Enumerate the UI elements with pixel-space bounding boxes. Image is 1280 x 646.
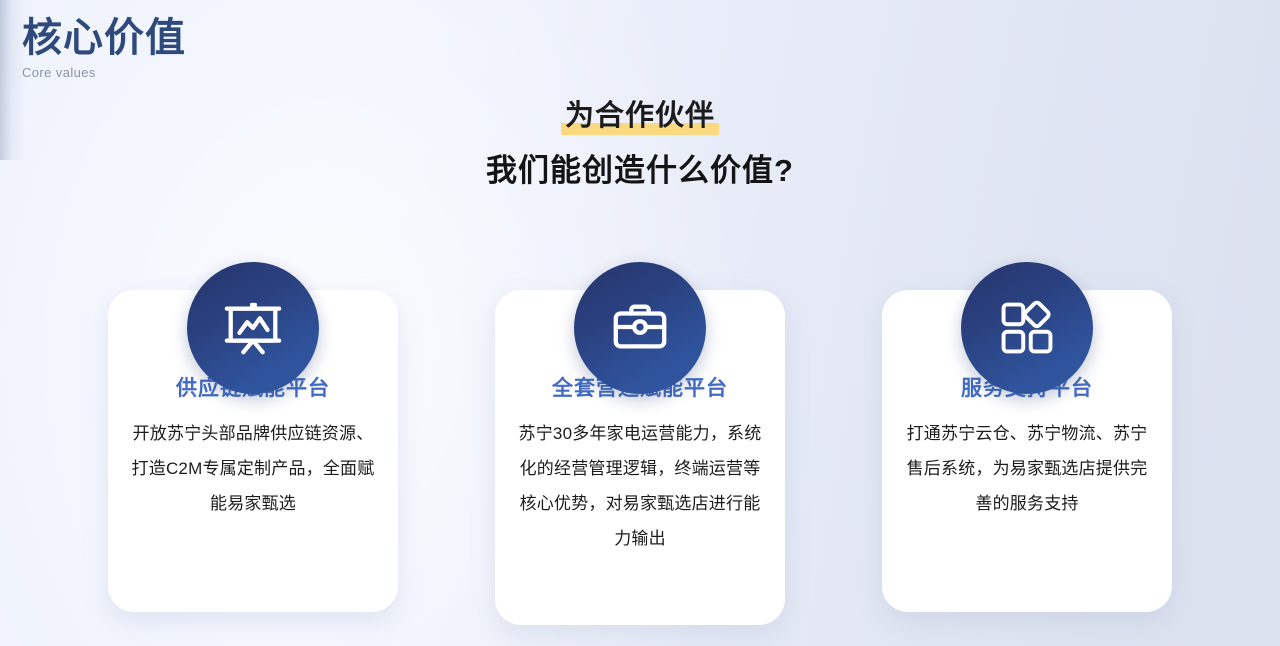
value-card-operations[interactable]: 全套营运赋能平台 苏宁30多年家电运营能力，系统化的经营管理逻辑，终端运营等核心… xyxy=(495,290,785,625)
headline-line-2: 我们能创造什么价值? xyxy=(0,150,1280,192)
headline-line-1: 为合作伙伴 xyxy=(561,96,719,136)
section-label: 核心价值 Core values xyxy=(22,14,186,82)
headline-line-1-text: 为合作伙伴 xyxy=(565,100,715,132)
section-title-cn: 核心价值 xyxy=(22,14,186,62)
headline: 为合作伙伴 我们能创造什么价值? xyxy=(0,96,1280,192)
shapes-grid-icon xyxy=(961,262,1093,394)
slide-root: 核心价值 Core values 为合作伙伴 我们能创造什么价值? xyxy=(0,0,1280,646)
card-body: 打通苏宁云仓、苏宁物流、苏宁售后系统，为易家甄选店提供完善的服务支持 xyxy=(902,416,1152,521)
value-card-supply-chain[interactable]: 供应链赋能平台 开放苏宁头部品牌供应链资源、打造C2M专属定制产品，全面赋能易家… xyxy=(108,290,398,612)
section-title-en: Core values xyxy=(22,64,186,82)
card-body: 苏宁30多年家电运营能力，系统化的经营管理逻辑，终端运营等核心优势，对易家甄选店… xyxy=(515,416,765,556)
value-cards: 供应链赋能平台 开放苏宁头部品牌供应链资源、打造C2M专属定制产品，全面赋能易家… xyxy=(0,290,1280,646)
card-body: 开放苏宁头部品牌供应链资源、打造C2M专属定制产品，全面赋能易家甄选 xyxy=(128,416,378,521)
presentation-chart-icon xyxy=(187,262,319,394)
briefcase-icon xyxy=(574,262,706,394)
value-card-service-support[interactable]: 服务支持平台 打通苏宁云仓、苏宁物流、苏宁售后系统，为易家甄选店提供完善的服务支… xyxy=(882,290,1172,612)
